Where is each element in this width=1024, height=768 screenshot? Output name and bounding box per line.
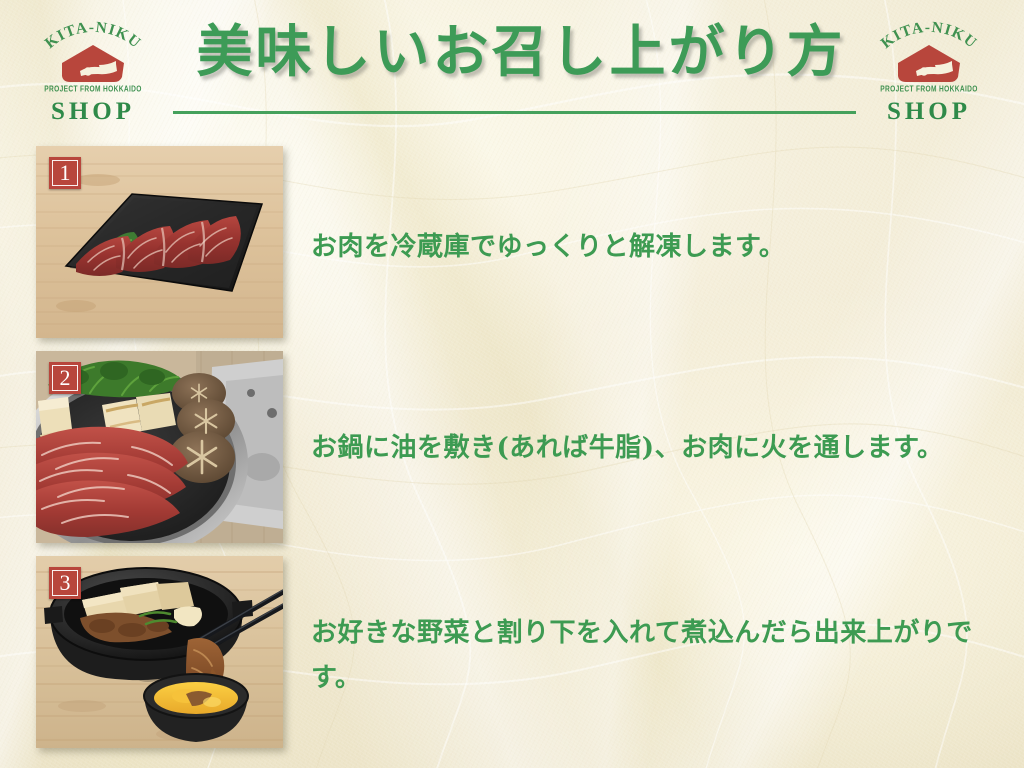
step-description: お鍋に油を敷き(あれば牛脂)、お肉に火を通します。 <box>311 426 991 471</box>
page-header: KITA-NIKU PROJECT FROM HOKKAIDO SHOP <box>0 0 1024 140</box>
step-number-badge: 2 <box>49 362 81 394</box>
step-number-badge: 1 <box>49 157 81 189</box>
step-photo: 1 <box>36 146 283 338</box>
badge-number: 2 <box>49 362 81 394</box>
logo-tagline: PROJECT FROM HOKKAIDO <box>862 85 996 94</box>
page-title: 美味しいお召し上がり方 <box>176 24 866 80</box>
brand-logo-left[interactable]: KITA-NIKU PROJECT FROM HOKKAIDO SHOP <box>26 26 160 130</box>
step-number-badge: 3 <box>49 567 81 599</box>
beef-cow-icon <box>894 44 964 84</box>
step-description: お肉を冷蔵庫でゆっくりと解凍します。 <box>311 225 991 270</box>
beef-cow-icon <box>58 44 128 84</box>
badge-number: 3 <box>49 567 81 599</box>
badge-number: 1 <box>49 157 81 189</box>
step-photo: 2 <box>36 351 283 543</box>
step-description: お好きな野菜と割り下を入れて煮込んだら出来上がりです。 <box>311 611 991 700</box>
logo-shop-label: SHOP <box>26 98 160 126</box>
step-photo: 3 <box>36 556 283 748</box>
logo-shop-label: SHOP <box>862 98 996 126</box>
title-underline-rule <box>173 111 856 114</box>
brand-logo-right[interactable]: KITA-NIKU PROJECT FROM HOKKAIDO SHOP <box>862 26 996 130</box>
logo-tagline: PROJECT FROM HOKKAIDO <box>26 85 160 94</box>
page-root: KITA-NIKU PROJECT FROM HOKKAIDO SHOP <box>0 0 1024 768</box>
